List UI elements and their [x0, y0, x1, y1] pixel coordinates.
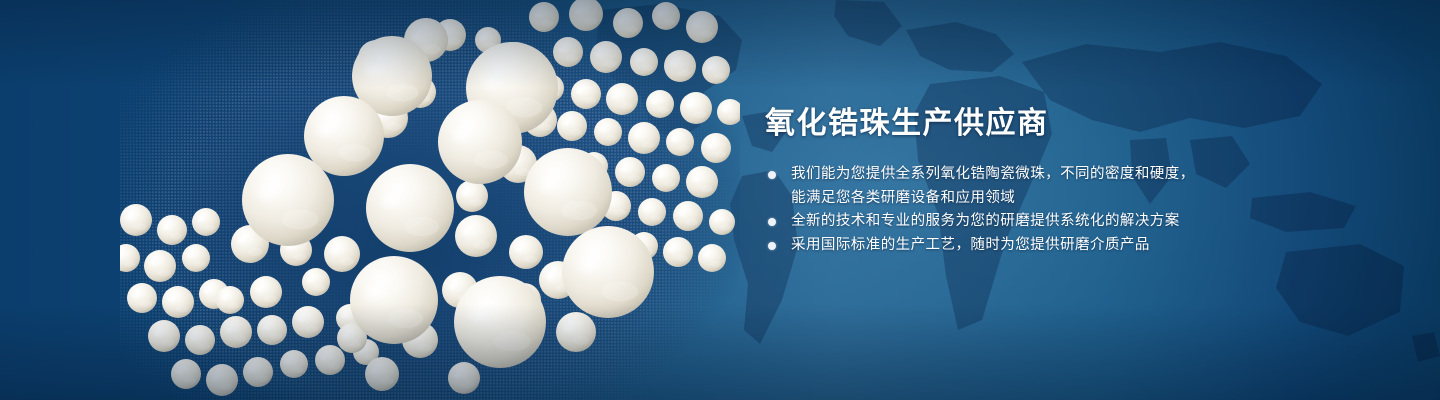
bullet-item-1: 我们能为您提供全系列氧化锆陶瓷微珠，不同的密度和硬度， 能满足您各类研磨设备和应…: [765, 163, 1235, 210]
hero-banner: 氧化锆珠生产供应商 我们能为您提供全系列氧化锆陶瓷微珠，不同的密度和硬度， 能满…: [0, 0, 1440, 400]
banner-bullet-list: 我们能为您提供全系列氧化锆陶瓷微珠，不同的密度和硬度， 能满足您各类研磨设备和应…: [765, 163, 1235, 257]
bullet-item-2-line1: 全新的技术和专业的服务为您的研磨提供系统化的解决方案: [791, 213, 1180, 229]
bullet-item-1-line1: 我们能为您提供全系列氧化锆陶瓷微珠，不同的密度和硬度，: [791, 166, 1195, 182]
bullet-item-3-line1: 采用国际标准的生产工艺，随时为您提供研磨介质产品: [791, 237, 1150, 253]
bullet-item-2: 全新的技术和专业的服务为您的研磨提供系统化的解决方案: [765, 210, 1235, 234]
bullet-item-3: 采用国际标准的生产工艺，随时为您提供研磨介质产品: [765, 234, 1235, 258]
bullet-item-1-line2: 能满足您各类研磨设备和应用领域: [791, 187, 1235, 211]
zirconia-beads-illustration: [120, 0, 740, 400]
banner-title: 氧化锆珠生产供应商: [765, 104, 1235, 144]
banner-copy: 氧化锆珠生产供应商 我们能为您提供全系列氧化锆陶瓷微珠，不同的密度和硬度， 能满…: [765, 104, 1235, 257]
bullet-dot-icon: [768, 242, 776, 250]
bullet-dot-icon: [768, 218, 776, 226]
bullet-dot-icon: [768, 171, 776, 179]
